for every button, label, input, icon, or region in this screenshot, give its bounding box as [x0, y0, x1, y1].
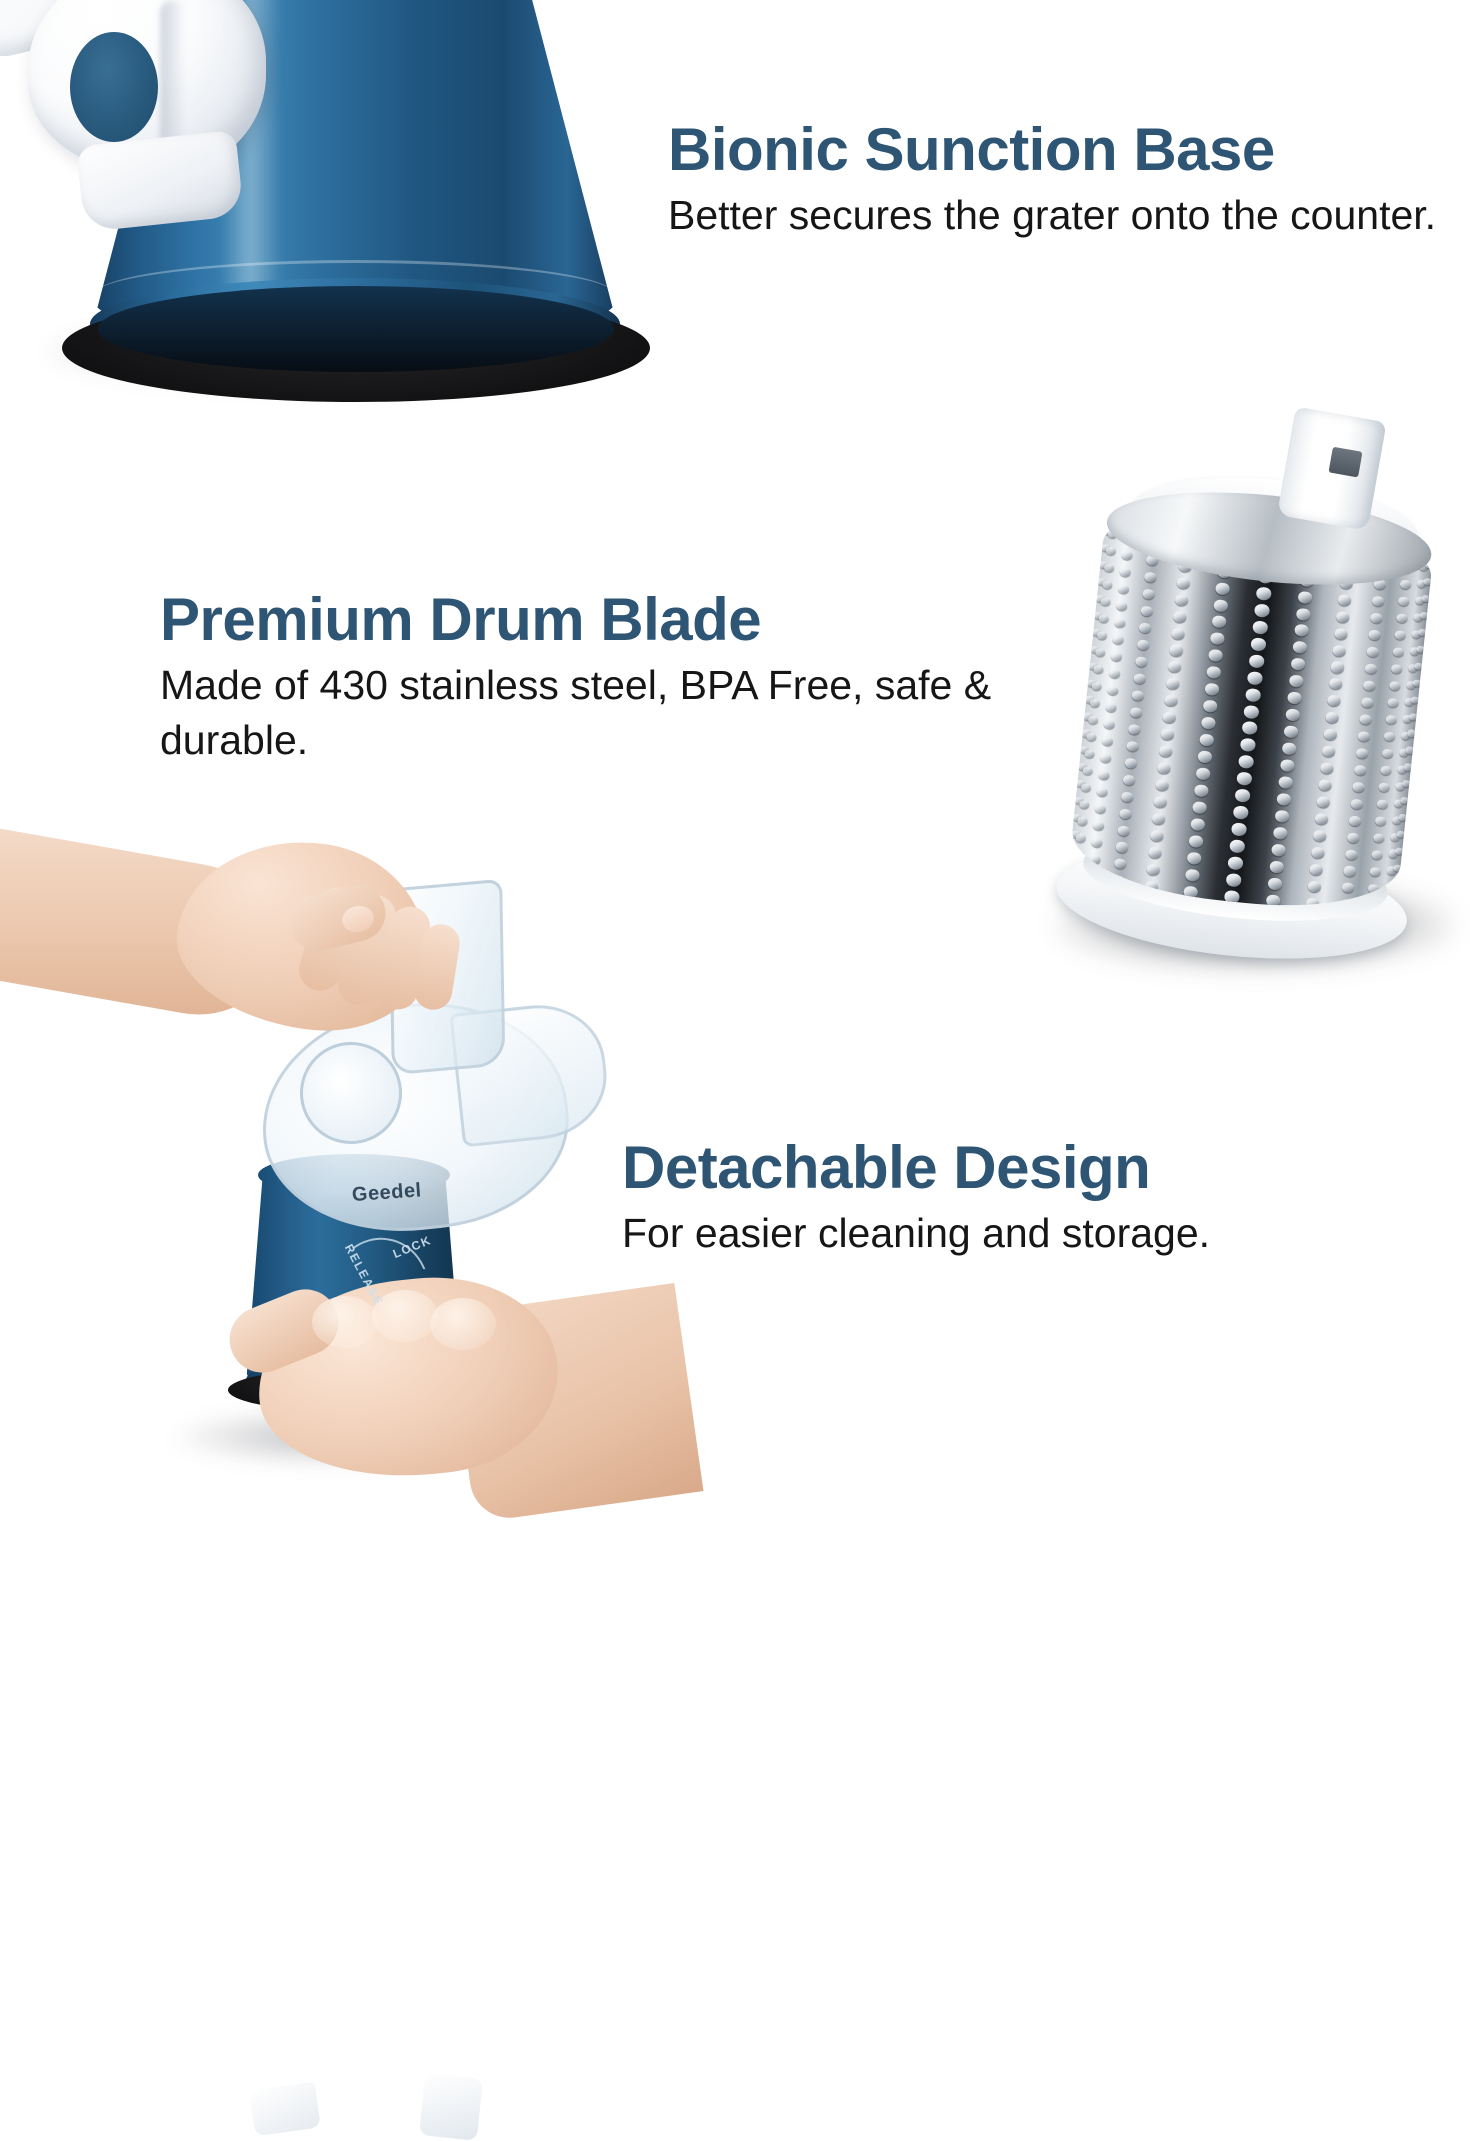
lever-foot — [76, 130, 244, 232]
grater-stud — [1336, 611, 1350, 623]
grater-stud — [1416, 645, 1425, 653]
grater-stud — [1128, 724, 1141, 735]
grater-stud — [1118, 825, 1131, 836]
feature-title: Detachable Design — [622, 1136, 1422, 1200]
grater-stud — [1307, 880, 1321, 892]
grater-stud — [1166, 678, 1180, 690]
grater-stud — [1100, 753, 1111, 763]
grater-stud — [1347, 832, 1360, 843]
grater-stud — [1368, 630, 1381, 641]
grater-stud — [1275, 810, 1290, 823]
grater-stud — [1197, 750, 1212, 763]
grater-stud — [1350, 798, 1363, 809]
grater-stud — [1384, 732, 1395, 742]
grater-stud — [1094, 665, 1104, 674]
grater-stud — [1190, 818, 1205, 831]
grater-stud — [1171, 627, 1185, 639]
grater-stud — [1114, 859, 1127, 870]
grater-stud — [1240, 738, 1256, 752]
grater-stud — [1089, 854, 1100, 864]
grater-stud — [1161, 729, 1175, 741]
grater-stud — [1139, 623, 1152, 634]
grater-stud — [1287, 692, 1302, 705]
grater-stud — [1103, 719, 1114, 729]
grater-stud — [1278, 776, 1293, 789]
grater-stud — [1375, 816, 1386, 826]
grater-stud — [1394, 630, 1405, 640]
grater-stud — [1250, 637, 1266, 651]
grater-stud — [1088, 715, 1098, 724]
grater-stud — [1076, 833, 1086, 842]
grater-stud — [1121, 791, 1134, 802]
grater-stud — [1412, 679, 1421, 687]
grater-stud — [1133, 673, 1146, 684]
grater-stud — [1109, 669, 1120, 679]
grater-stud — [1177, 577, 1191, 589]
grater-stud — [1377, 799, 1388, 809]
grater-stud — [1102, 581, 1112, 590]
white-latch-right — [419, 2073, 483, 2141]
grater-stud — [1183, 885, 1198, 898]
grater-stud — [1130, 707, 1143, 718]
grater-stud — [1118, 584, 1129, 594]
grater-stud — [1155, 779, 1169, 791]
grater-stud — [1291, 658, 1306, 671]
grater-stud — [1414, 662, 1423, 670]
grater-stud — [1121, 551, 1132, 561]
grater-stud — [1409, 713, 1418, 721]
grater-stud — [1234, 789, 1250, 803]
grater-stud — [1370, 613, 1383, 624]
suction-ring-inner-rim — [98, 286, 614, 372]
grater-stud — [1389, 681, 1400, 691]
grater-stud — [1098, 770, 1109, 780]
grater-stud — [1192, 801, 1207, 814]
grater-stud — [1226, 873, 1242, 887]
grater-stud — [1373, 833, 1384, 843]
grater-stud — [1271, 843, 1286, 856]
grater-stud — [1249, 654, 1265, 668]
grater-stud — [1173, 611, 1187, 623]
grater-stud — [1079, 800, 1089, 809]
grater-stud — [1186, 852, 1201, 865]
grater-stud — [1199, 733, 1214, 746]
grater-stud — [1289, 675, 1304, 688]
grater-stud — [1195, 767, 1210, 780]
feature-title: Bionic Sunction Base — [668, 118, 1458, 182]
grater-stud — [1357, 731, 1370, 742]
grater-stud — [1372, 596, 1385, 607]
grater-stud — [1252, 620, 1268, 634]
feature-block-bionic-suction-base: Bionic Sunction Base Better secures the … — [668, 118, 1458, 243]
feature-title: Premium Drum Blade — [160, 588, 1000, 652]
knuckle-highlight — [312, 1296, 378, 1348]
grater-stud — [1114, 618, 1125, 628]
grater-stud — [1209, 632, 1224, 645]
grater-stud — [1185, 868, 1200, 881]
grater-stud — [1144, 572, 1157, 583]
grater-stud — [1405, 746, 1414, 754]
grater-stud — [1170, 644, 1184, 656]
grater-stud — [1364, 663, 1377, 674]
grater-stud — [1378, 782, 1389, 792]
grater-stud — [1391, 881, 1400, 889]
grater-stud — [1380, 765, 1391, 775]
grater-stud — [1368, 883, 1379, 893]
grater-stud — [1213, 599, 1228, 612]
grater-stud — [1345, 849, 1358, 860]
grater-stud — [1284, 725, 1299, 738]
grater-stud — [1091, 837, 1102, 847]
grater-stud — [1366, 900, 1377, 910]
feature-block-detachable-design: Detachable Design For easier cleaning an… — [622, 1136, 1422, 1261]
grater-stud — [1236, 772, 1252, 786]
grater-stud — [1385, 715, 1396, 725]
grater-stud — [1095, 804, 1106, 814]
grater-stud — [1215, 582, 1230, 595]
grater-stud — [1101, 597, 1111, 606]
grater-stud — [1102, 736, 1113, 746]
grater-stud — [1227, 856, 1243, 870]
grater-stud — [1116, 842, 1129, 853]
grater-stud — [1241, 721, 1257, 735]
grater-stud — [1321, 745, 1335, 757]
grater-stud — [1400, 580, 1411, 590]
grater-stud — [1168, 661, 1182, 673]
grater-stud — [1096, 787, 1107, 797]
grater-stud — [1363, 680, 1376, 691]
knob-blue-inset — [70, 32, 158, 142]
grater-stud — [1325, 712, 1339, 724]
grater-stud — [1147, 863, 1161, 875]
grater-stud — [1421, 595, 1430, 603]
grater-stud — [1086, 732, 1096, 741]
grater-stud — [1132, 690, 1145, 701]
grater-stud — [1202, 700, 1217, 713]
grater-stud — [1411, 696, 1420, 704]
grater-stud — [1403, 763, 1412, 771]
grater-stud — [1078, 817, 1088, 826]
grater-stud — [1107, 685, 1118, 695]
grater-stud — [1106, 547, 1116, 556]
grater-stud — [1123, 774, 1136, 785]
grater-stud — [1332, 644, 1346, 656]
grater-stud — [1371, 850, 1382, 860]
grater-stud — [1391, 664, 1402, 674]
grater-stud — [1294, 624, 1309, 637]
grater-stud — [1323, 729, 1337, 741]
grater-stud — [1370, 867, 1381, 877]
feature-description: For easier cleaning and storage. — [622, 1206, 1422, 1261]
grater-stud — [1112, 635, 1123, 645]
grater-stud — [1341, 882, 1354, 893]
grater-stud — [1137, 639, 1150, 650]
grater-stud — [1356, 748, 1369, 759]
grater-stud — [1201, 717, 1216, 730]
grater-stud — [1081, 783, 1091, 792]
grater-stud — [1111, 652, 1122, 662]
grater-stud — [1233, 806, 1249, 820]
grater-stud — [1245, 688, 1261, 702]
grater-stud — [1157, 762, 1171, 774]
grater-stud — [1393, 647, 1404, 657]
grater-stud — [1175, 594, 1189, 606]
feature-description: Better secures the grater onto the count… — [668, 188, 1458, 243]
grater-stud — [1382, 748, 1393, 758]
grater-stud — [1337, 594, 1351, 606]
grater-stud — [1407, 730, 1416, 738]
grater-stud — [1119, 808, 1132, 819]
feature-description: Made of 430 stainless steel, BPA Free, s… — [160, 658, 1000, 768]
infographic-canvas: Geedel LOCK RELEASE Bionic Sunction Base… — [0, 0, 1470, 1500]
grater-stud — [1154, 796, 1168, 808]
grater-stud — [1083, 766, 1093, 775]
grater-stud — [1419, 612, 1428, 620]
grater-stud — [1074, 850, 1084, 859]
grater-stud — [1085, 749, 1095, 758]
grater-stud — [1286, 709, 1301, 722]
feature-block-premium-drum-blade: Premium Drum Blade Made of 430 stainless… — [160, 588, 1000, 767]
grater-stud — [1280, 759, 1295, 772]
grater-stud — [1206, 666, 1221, 679]
grater-stud — [1126, 741, 1139, 752]
grater-stud — [1311, 847, 1325, 859]
shaft-socket-window — [1328, 447, 1362, 478]
grater-stud — [1164, 695, 1178, 707]
grater-stud — [1334, 627, 1348, 639]
grater-stud — [1247, 671, 1263, 685]
grater-stud — [1093, 820, 1104, 830]
grater-stud — [1135, 656, 1148, 667]
grater-stud — [1293, 641, 1308, 654]
grater-stud — [1204, 683, 1219, 696]
grater-stud — [1087, 871, 1098, 881]
grater-stud — [1268, 877, 1283, 890]
grater-stud — [1296, 607, 1311, 620]
grater-stud — [1270, 860, 1285, 873]
grater-stud — [1327, 695, 1341, 707]
grater-stud — [1359, 714, 1372, 725]
grater-stud — [1208, 649, 1223, 662]
grater-stud — [1256, 586, 1272, 600]
grater-stud — [1095, 648, 1105, 657]
grater-stud — [1193, 784, 1208, 797]
grater-stud — [1318, 779, 1332, 791]
grater-stud — [1330, 661, 1344, 673]
grater-stud — [1314, 813, 1328, 825]
grater-stud — [1159, 745, 1173, 757]
grater-stud — [1104, 564, 1114, 573]
grater-stud — [1148, 847, 1162, 859]
grater-stud — [1243, 704, 1259, 718]
white-latch-left — [249, 2082, 321, 2137]
grater-stud — [1354, 764, 1367, 775]
grater-stud — [1277, 793, 1292, 806]
grater-stud — [1396, 614, 1407, 624]
grater-stud — [1092, 682, 1102, 691]
grater-stud — [1238, 755, 1254, 769]
grater-stud — [1387, 698, 1398, 708]
grater-stud — [1105, 702, 1116, 712]
grater-stud — [1162, 712, 1176, 724]
grater-stud — [1343, 866, 1356, 877]
grater-stud — [1090, 699, 1100, 708]
product-photo-detachable — [0, 828, 630, 1500]
grater-stud — [1231, 822, 1247, 836]
product-photo-drum-blade — [1015, 400, 1470, 1040]
grater-stud — [1125, 757, 1138, 768]
grater-stud — [1254, 603, 1270, 617]
grater-stud — [1188, 835, 1203, 848]
grater-stud — [1119, 567, 1130, 577]
grater-stud — [1282, 742, 1297, 755]
grater-stud — [1352, 781, 1365, 792]
grater-stud — [1142, 589, 1155, 600]
grater-stud — [1309, 863, 1323, 875]
grater-stud — [1298, 591, 1313, 604]
grater-stud — [1211, 615, 1226, 628]
grater-stud — [1348, 815, 1361, 826]
grater-stud — [1116, 601, 1127, 611]
grater-stud — [1273, 827, 1288, 840]
product-photo-suction-base — [0, 0, 670, 480]
grater-stud — [1152, 813, 1166, 825]
grater-stud — [1361, 697, 1374, 708]
grater-stud — [1097, 631, 1107, 640]
knuckle-highlight — [430, 1298, 496, 1350]
grater-stud — [1418, 628, 1427, 636]
grater-stud — [1320, 762, 1334, 774]
knob-crease-highlight — [160, 0, 186, 150]
grater-stud — [1150, 830, 1164, 842]
grater-stud — [1393, 864, 1402, 872]
grater-stud — [1329, 678, 1343, 690]
grater-stud — [1316, 796, 1330, 808]
grater-stud — [1313, 830, 1327, 842]
grater-stud — [1423, 578, 1432, 586]
drum-assembly — [983, 378, 1470, 1063]
grater-stud — [1398, 597, 1409, 607]
grater-stud — [1141, 606, 1154, 617]
grater-stud — [1099, 614, 1109, 623]
grater-stud — [1366, 646, 1379, 657]
grater-stud — [1229, 839, 1245, 853]
